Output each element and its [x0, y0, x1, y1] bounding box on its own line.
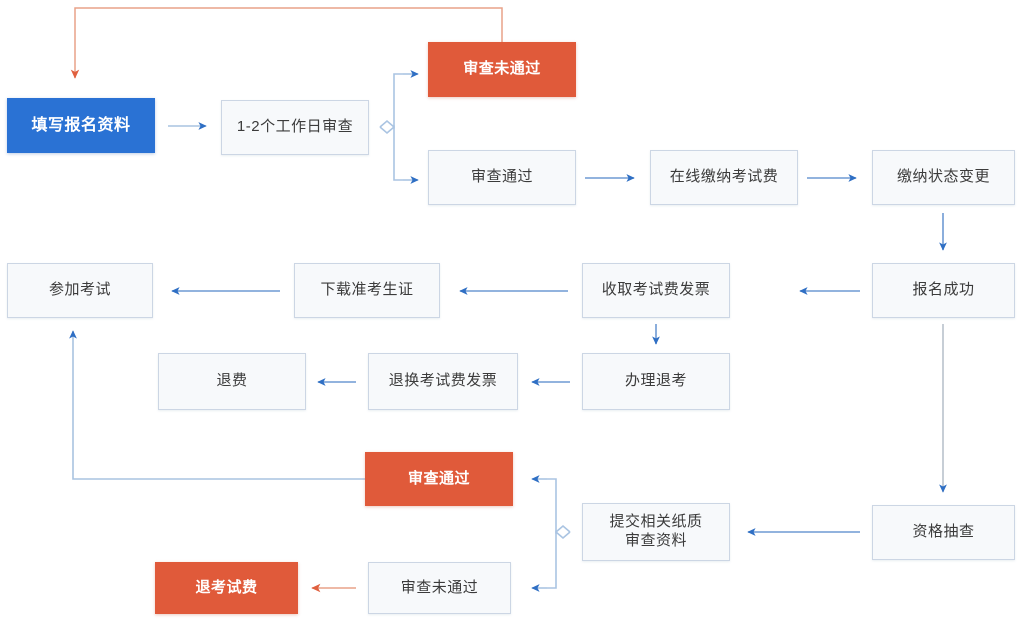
node-pay-online[interactable]: 在线缴纳考试费 [650, 150, 798, 205]
node-review-1-2-days[interactable]: 1-2个工作日审查 [221, 100, 369, 155]
node-label: 退费 [216, 372, 247, 391]
node-label: 审查未通过 [401, 579, 479, 598]
node-fill-form[interactable]: 填写报名资料 [7, 98, 155, 153]
node-label: 下载准考生证 [320, 281, 413, 300]
node-label: 审查通过 [408, 470, 470, 489]
node-return-invoice[interactable]: 退换考试费发票 [368, 353, 518, 410]
edge-brace-bottom [547, 479, 570, 588]
node-label: 退考试费 [195, 579, 257, 598]
node-review-failed-top[interactable]: 审查未通过 [428, 42, 576, 97]
node-label: 退换考试费发票 [389, 372, 498, 391]
node-label: 审查通过 [471, 168, 533, 187]
node-label: 填写报名资料 [31, 116, 130, 136]
node-submit-paper[interactable]: 提交相关纸质 审查资料 [582, 503, 730, 561]
node-label: 参加考试 [49, 281, 111, 300]
node-pay-status[interactable]: 缴纳状态变更 [872, 150, 1015, 205]
node-apply-withdraw[interactable]: 办理退考 [582, 353, 730, 410]
node-label: 1-2个工作日审查 [237, 118, 353, 137]
node-label: 在线缴纳考试费 [670, 168, 779, 187]
node-label: 审查未通过 [463, 60, 541, 79]
node-label: 资格抽查 [912, 523, 974, 542]
node-label: 报名成功 [912, 281, 974, 300]
flowchart-canvas: 填写报名资料 1-2个工作日审查 审查未通过 审查通过 在线缴纳考试费 缴纳状态… [0, 0, 1024, 624]
node-refund-exam-fee[interactable]: 退考试费 [155, 562, 298, 614]
node-review-passed-bot[interactable]: 审查通过 [365, 452, 513, 506]
edge-brace-top [380, 74, 403, 180]
node-review-passed-top[interactable]: 审查通过 [428, 150, 576, 205]
node-label: 收取考试费发票 [602, 281, 711, 300]
node-download-ticket[interactable]: 下载准考生证 [294, 263, 440, 318]
node-review-failed-bot[interactable]: 审查未通过 [368, 562, 511, 614]
node-refund[interactable]: 退费 [158, 353, 306, 410]
node-signup-success[interactable]: 报名成功 [872, 263, 1015, 318]
node-qualification[interactable]: 资格抽查 [872, 505, 1015, 560]
node-label: 提交相关纸质 审查资料 [609, 513, 702, 551]
node-label: 缴纳状态变更 [897, 168, 990, 187]
node-get-invoice[interactable]: 收取考试费发票 [582, 263, 730, 318]
node-take-exam[interactable]: 参加考试 [7, 263, 153, 318]
node-label: 办理退考 [625, 372, 687, 391]
